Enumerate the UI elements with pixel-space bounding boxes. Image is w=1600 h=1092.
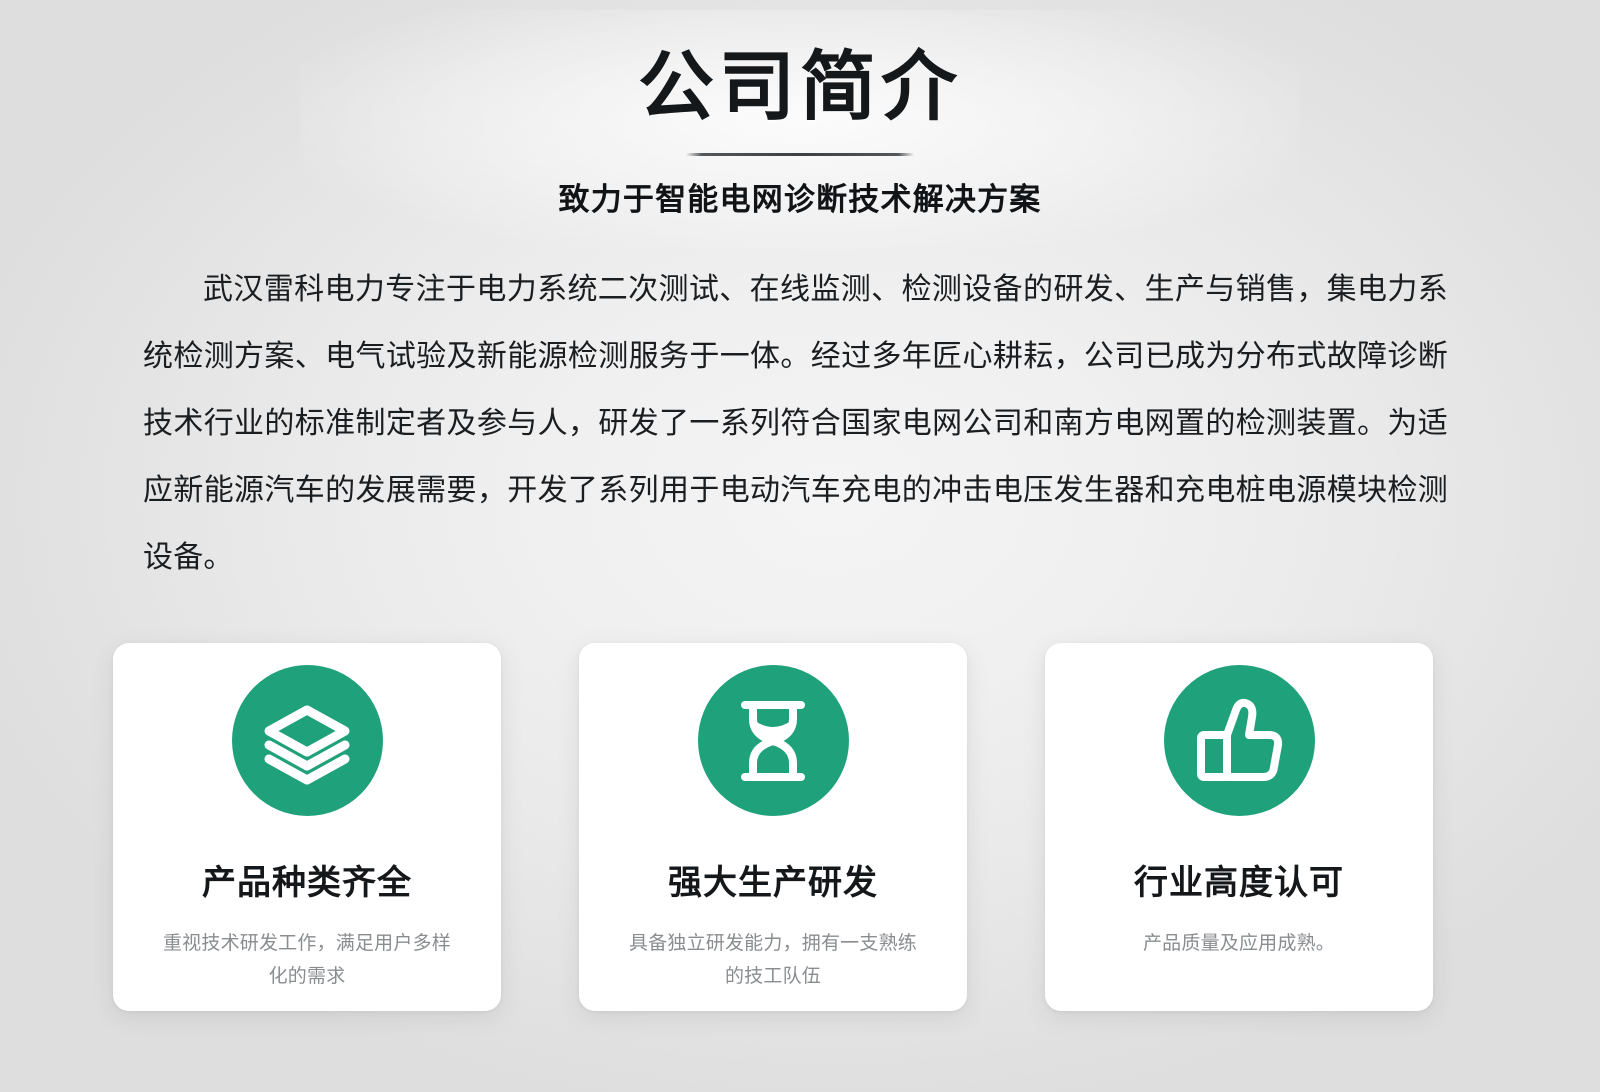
layers-icon (232, 665, 383, 816)
company-profile-page: 公司简介 致力于智能电网诊断技术解决方案 武汉雷科电力专注于电力系统二次测试、在… (0, 0, 1600, 1092)
hourglass-icon (698, 665, 849, 816)
page-subtitle: 致力于智能电网诊断技术解决方案 (0, 180, 1600, 220)
feature-card-title: 强大生产研发 (668, 861, 878, 905)
feature-card-title: 行业高度认可 (1134, 861, 1344, 905)
feature-card-rnd-capability[interactable]: 强大生产研发 具备独立研发能力，拥有一支熟练的技工队伍 (579, 643, 967, 1011)
feature-card-title: 产品种类齐全 (202, 861, 412, 905)
feature-card-industry-recognition[interactable]: 行业高度认可 产品质量及应用成熟。 (1045, 643, 1433, 1011)
feature-card-list: 产品种类齐全 重视技术研发工作，满足用户多样化的需求 强大生产研发 具备独立研发… (113, 643, 1433, 1011)
thumbs-up-icon (1164, 665, 1315, 816)
feature-card-description: 具备独立研发能力，拥有一支熟练的技工队伍 (623, 927, 923, 993)
feature-card-description: 重视技术研发工作，满足用户多样化的需求 (157, 927, 457, 993)
page-title: 公司简介 (0, 42, 1600, 134)
feature-card-description: 产品质量及应用成熟。 (1089, 927, 1389, 960)
feature-card-product-range[interactable]: 产品种类齐全 重视技术研发工作，满足用户多样化的需求 (113, 643, 501, 1011)
title-divider-icon (686, 153, 914, 156)
company-intro-paragraph: 武汉雷科电力专注于电力系统二次测试、在线监测、检测设备的研发、生产与销售，集电力… (143, 256, 1448, 591)
page-header: 公司简介 致力于智能电网诊断技术解决方案 (0, 0, 1600, 220)
